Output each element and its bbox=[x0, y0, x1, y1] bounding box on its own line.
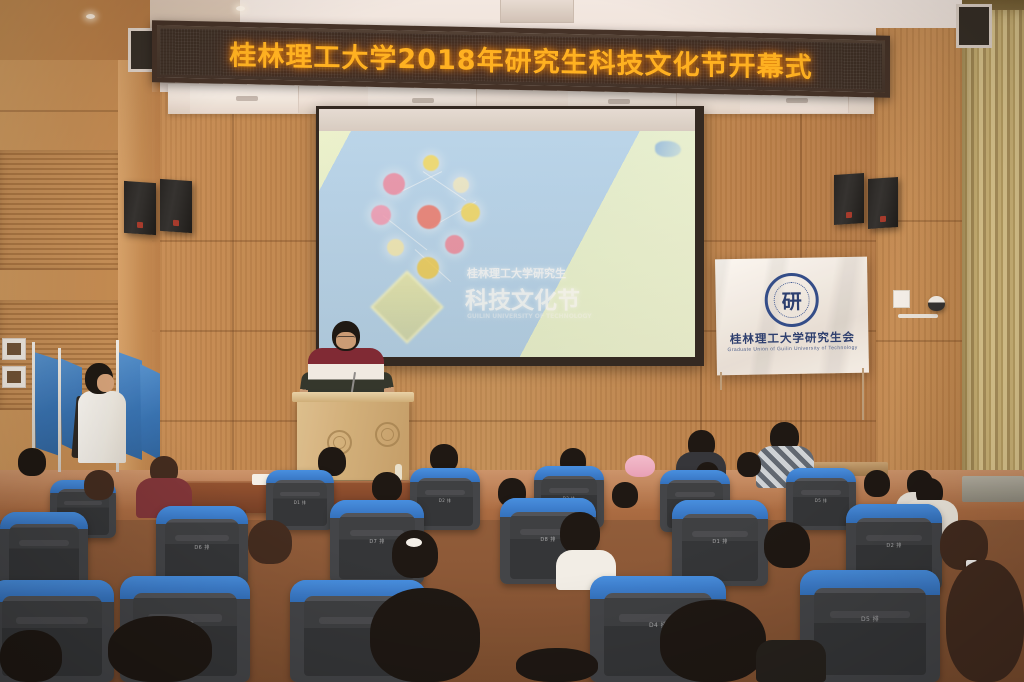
side-desk bbox=[962, 476, 1024, 502]
audience-head bbox=[612, 482, 638, 508]
ceiling-downlight bbox=[236, 6, 245, 11]
hair-clip-icon bbox=[406, 538, 422, 547]
podium-emblem-icon bbox=[375, 422, 400, 447]
led-panel: 桂林理工大学2018年研究生科技文化节开幕式 bbox=[160, 28, 882, 89]
loudspeaker-icon bbox=[124, 181, 156, 235]
union-logo-icon: 研 bbox=[764, 273, 819, 328]
led-banner-text: 桂林理工大学2018年研究生科技文化节开幕式 bbox=[160, 32, 882, 86]
audience-head bbox=[864, 470, 890, 497]
seat-label: D6 排 bbox=[194, 544, 209, 551]
projection-screen: 桂林理工大学研究生 科技文化节 GUILIN UNIVERSITY OF TEC… bbox=[319, 131, 695, 357]
seat-label: D1 排 bbox=[712, 538, 727, 545]
audience-head bbox=[372, 472, 402, 502]
seat[interactable]: D6 排 bbox=[156, 506, 248, 586]
blue-flag bbox=[34, 352, 60, 456]
seat[interactable]: D1 排 bbox=[672, 500, 768, 586]
soffit-downlight-icon bbox=[412, 98, 434, 103]
acoustic-panel bbox=[0, 150, 120, 270]
audience-head-foreground bbox=[370, 588, 480, 682]
wall-panel-icon[interactable] bbox=[2, 338, 26, 360]
audience-head bbox=[560, 512, 600, 554]
camera-bracket bbox=[898, 314, 938, 318]
seat-back bbox=[814, 588, 926, 675]
banner-tie bbox=[862, 368, 864, 420]
pink-hat bbox=[625, 455, 655, 477]
audience-torso bbox=[756, 640, 826, 682]
audience-head-foreground bbox=[108, 616, 212, 682]
seat-back bbox=[682, 514, 759, 581]
seat-label: D5 排 bbox=[815, 498, 828, 504]
wall-panel-icon[interactable] bbox=[2, 366, 26, 388]
ceiling-downlight bbox=[86, 14, 95, 19]
glasses-icon bbox=[337, 336, 355, 341]
seat-label: D2 排 bbox=[439, 498, 452, 504]
seat[interactable] bbox=[0, 512, 88, 590]
audience-head bbox=[18, 448, 46, 476]
soffit-downlight-icon bbox=[236, 96, 258, 101]
seat-label: D1 排 bbox=[294, 500, 307, 506]
ceiling-vent bbox=[500, 0, 574, 23]
seat-label: D5 排 bbox=[861, 614, 879, 623]
loudspeaker-icon bbox=[868, 177, 898, 229]
podium bbox=[297, 396, 409, 480]
audience-head-foreground bbox=[660, 600, 766, 682]
union-logo-glyph: 研 bbox=[781, 285, 802, 314]
blue-flag bbox=[140, 364, 160, 460]
wall-seam bbox=[0, 110, 120, 112]
audience-head bbox=[737, 452, 761, 477]
graduate-union-banner: 研 桂林理工大学研究生会 Graduate Union of Guilin Un… bbox=[715, 257, 869, 376]
wall-plaque-icon bbox=[956, 4, 992, 48]
banner-tie bbox=[720, 372, 722, 390]
flag-pole bbox=[58, 348, 61, 472]
audience-head bbox=[248, 520, 292, 564]
standing-person-face bbox=[97, 374, 114, 392]
seat-label: D8 排 bbox=[540, 536, 555, 543]
wall-seam bbox=[876, 340, 971, 342]
screen-glare bbox=[319, 131, 695, 357]
seat-back bbox=[9, 524, 79, 585]
soffit-downlight-icon bbox=[786, 98, 808, 103]
banner-english-text: Graduate Union of Guilin University of T… bbox=[717, 345, 869, 354]
podium-top bbox=[292, 392, 414, 402]
audience-head-foreground bbox=[516, 648, 598, 682]
audience-head-foreground bbox=[946, 560, 1024, 682]
standing-person-torso bbox=[78, 391, 126, 463]
auditorium-photo: 桂林理工大学2018年研究生科技文化节开幕式 桂林理工大学研究生 科技文化节 G… bbox=[0, 0, 1024, 682]
seat-label: D7 排 bbox=[369, 538, 384, 545]
security-camera-icon bbox=[928, 296, 945, 311]
audience-head bbox=[84, 470, 114, 500]
wall-junction-box bbox=[893, 290, 910, 308]
soffit-downlight-icon bbox=[608, 99, 630, 104]
audience-head bbox=[764, 522, 810, 568]
loudspeaker-icon bbox=[160, 179, 192, 233]
audience-head-foreground bbox=[0, 630, 62, 682]
projection-screen-top-border bbox=[319, 109, 695, 131]
seat-label: D2 排 bbox=[886, 542, 901, 549]
loudspeaker-icon bbox=[834, 173, 864, 225]
